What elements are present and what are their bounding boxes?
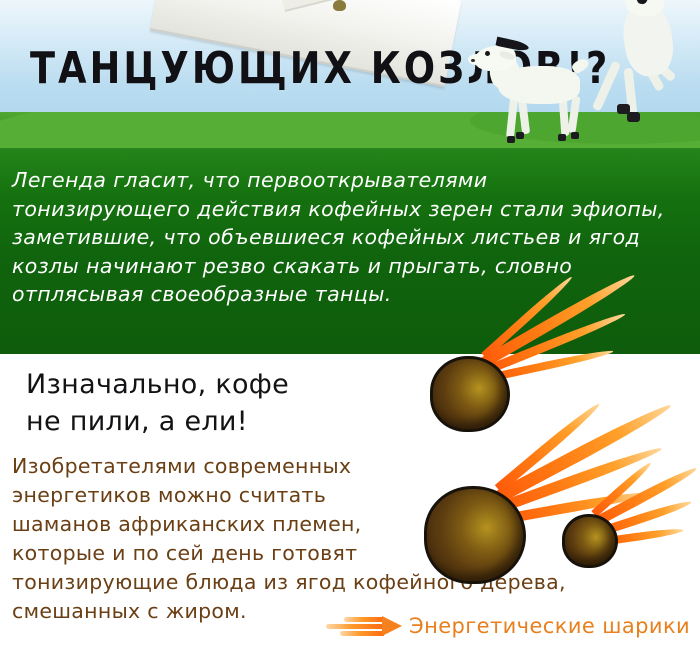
legend-paragraph: Легенда гласит, что первооткрывателями т…: [12, 166, 690, 309]
subheading-line: не пили, а ели!: [26, 403, 289, 440]
paper-plane-detail-icon: [333, 0, 346, 11]
goat-standing-icon: [472, 38, 612, 138]
flame-arrow-icon: [336, 615, 402, 637]
goat-jumping-icon: [596, 0, 700, 126]
section-subheading: Изначально, кофе не пили, а ели!: [26, 366, 289, 440]
infographic-page: ТАНЦУЮЩИХ КОЗЛОВ!?: [0, 0, 700, 665]
goat-hoof: [558, 134, 566, 141]
coffee-bean-comet-small-right: [560, 478, 700, 568]
arrow-flame-line: [326, 624, 384, 629]
goat-eye: [485, 51, 490, 56]
coffee-bean-ball: [424, 486, 526, 584]
goat-hoof: [571, 132, 579, 139]
legend-line: тонизирующего действия кофейных зерен ст…: [12, 195, 690, 224]
legend-line: козлы начинают резво скакать и прыгать, …: [12, 252, 690, 281]
goat-nose: [471, 59, 475, 62]
legend-line: заметившие, что объевшиеся кофейных лист…: [12, 223, 690, 252]
coffee-bean-ball: [562, 514, 618, 568]
goat-leg: [567, 96, 580, 134]
arrow-flame-line: [344, 617, 384, 622]
subheading-line: Изначально, кофе: [26, 366, 289, 403]
arrow-head: [382, 616, 402, 636]
caption-label: Энергетические шарики: [409, 614, 690, 638]
goat-hoof: [516, 132, 524, 139]
goat-hoof: [627, 112, 640, 122]
coffee-bean-ball: [430, 356, 510, 432]
goat-hoof: [507, 136, 515, 143]
arrow-flame-line: [340, 631, 384, 636]
legend-line: Легенда гласит, что первооткрывателями: [12, 166, 690, 195]
goat-leg: [592, 60, 621, 111]
caption-row: Энергетические шарики: [336, 614, 690, 638]
